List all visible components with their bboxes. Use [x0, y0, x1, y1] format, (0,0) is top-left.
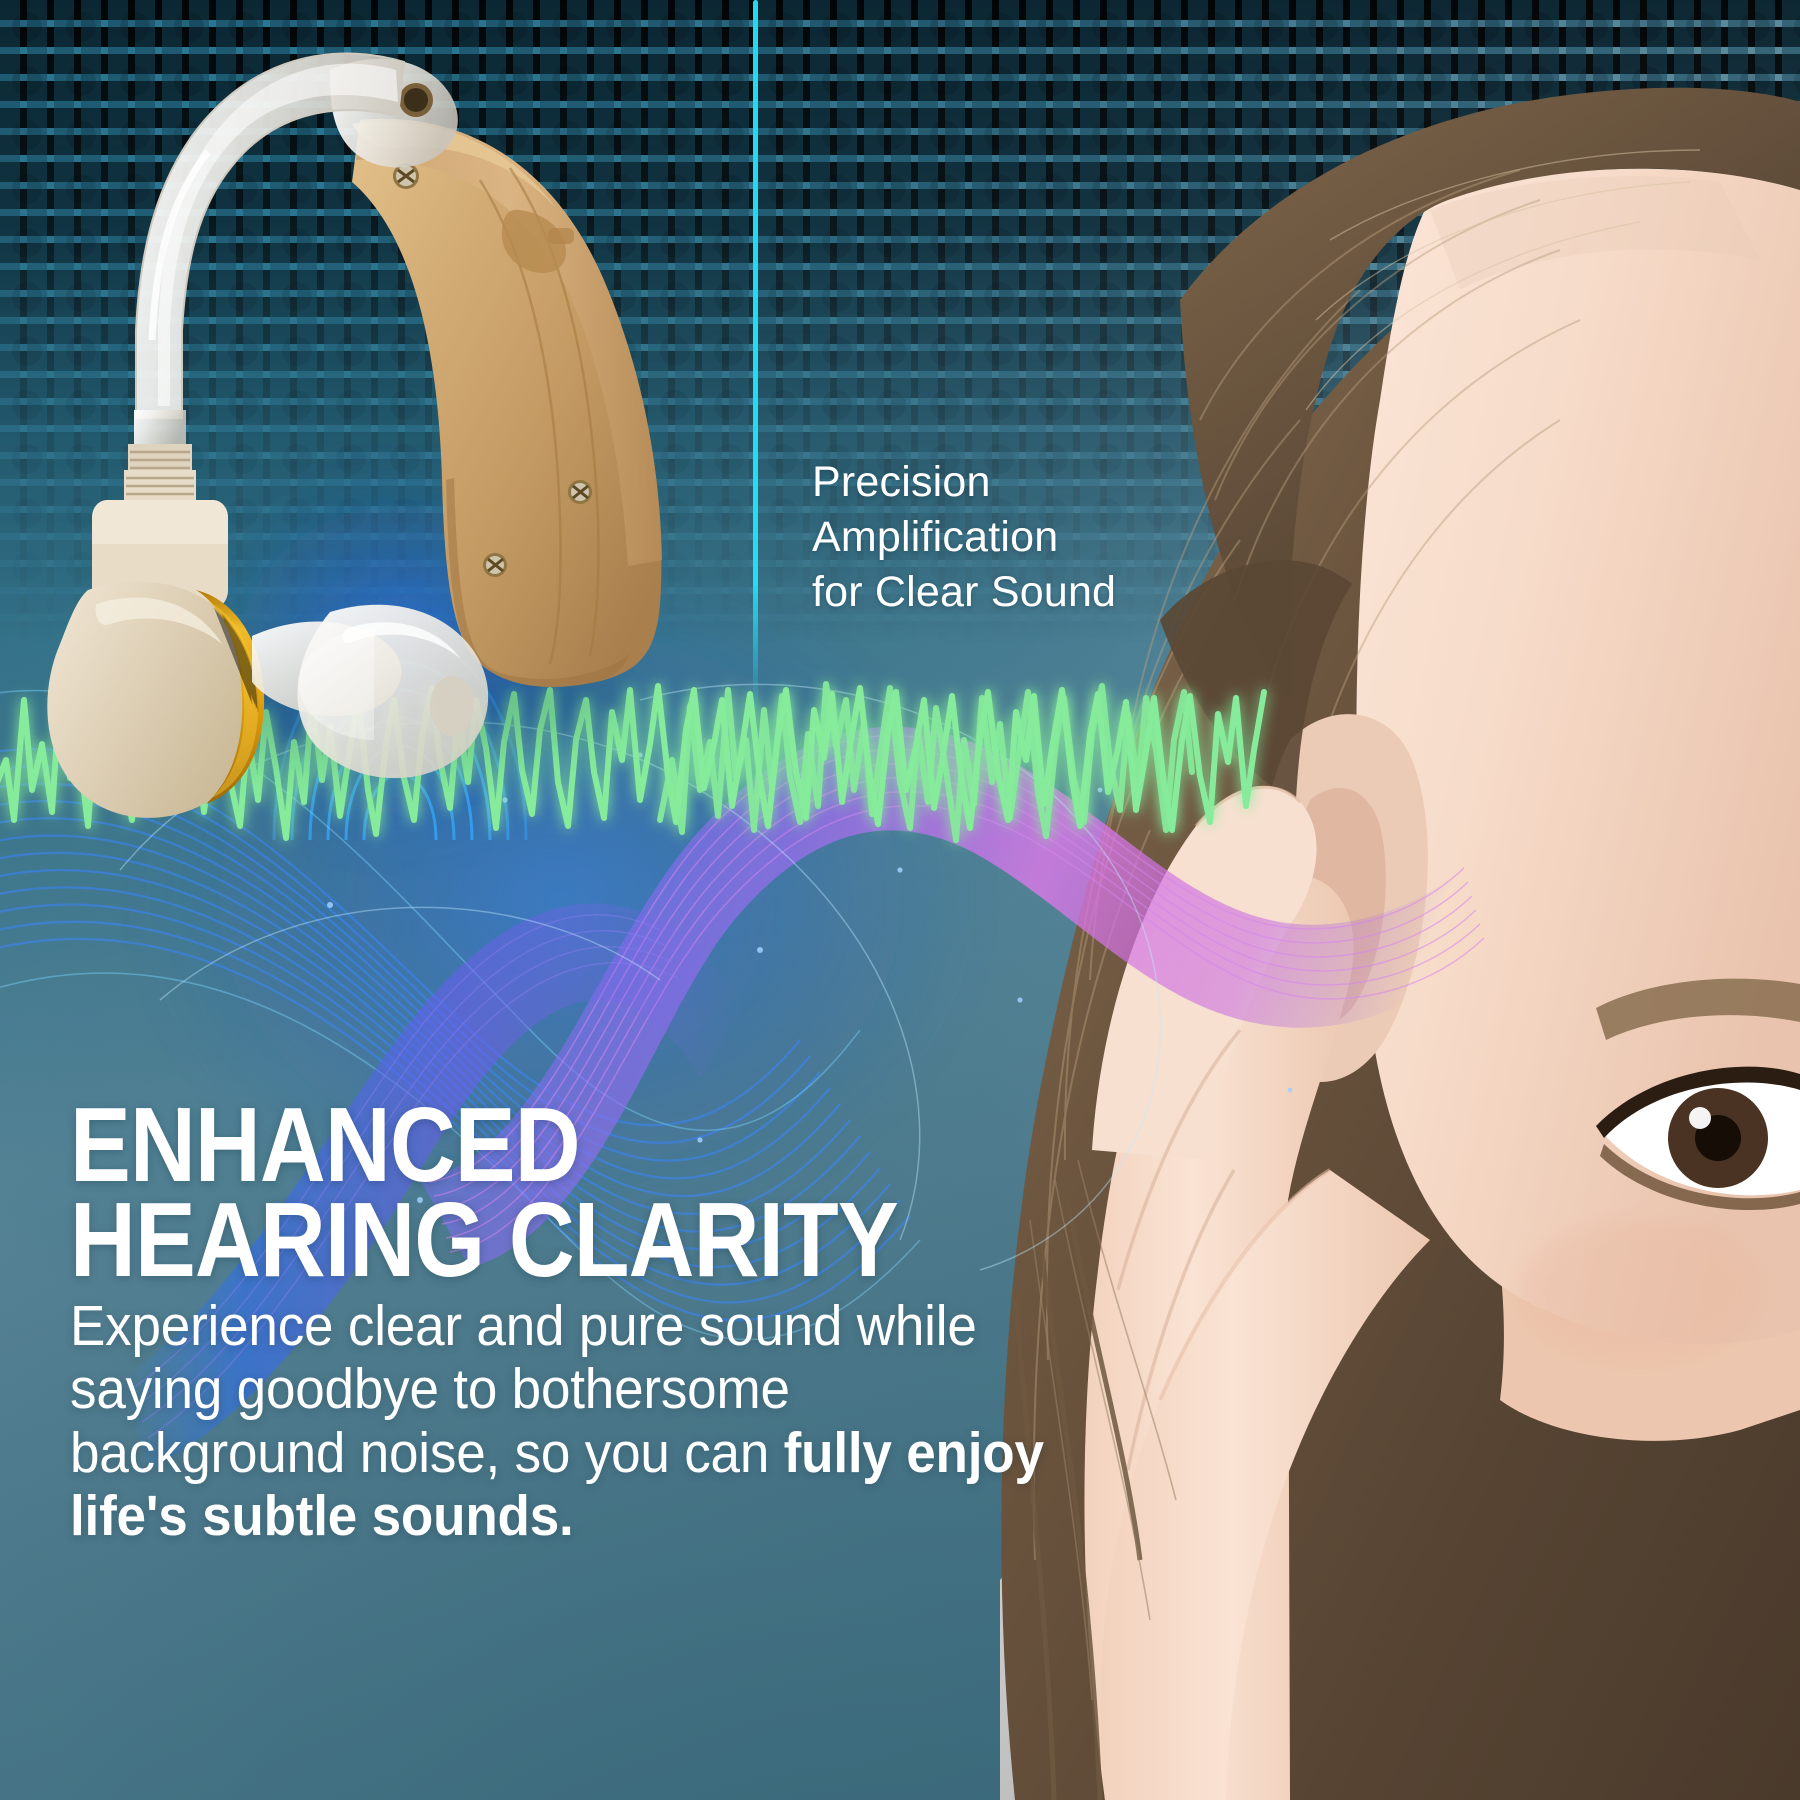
device-screw: [568, 480, 592, 504]
tagline-line-1: Precision: [812, 455, 1232, 510]
device-screw: [483, 553, 507, 577]
headline-line-1: ENHANCED: [70, 1098, 930, 1193]
poster-canvas: Precision Amplification for Clear Sound …: [0, 0, 1800, 1800]
tube-connector: [124, 410, 196, 500]
page-title: ENHANCED HEARING CLARITY: [70, 1098, 930, 1289]
cyan-divider-line: [753, 0, 758, 710]
tagline-line-3: for Clear Sound: [812, 565, 1232, 620]
hearing-aid-device: [47, 53, 662, 817]
headline-line-2: HEARING CLARITY: [70, 1193, 930, 1288]
tagline-line-2: Amplification: [812, 510, 1232, 565]
body-copy: Experience clear and pure sound while sa…: [70, 1295, 1056, 1548]
tagline: Precision Amplification for Clear Sound: [812, 455, 1232, 620]
